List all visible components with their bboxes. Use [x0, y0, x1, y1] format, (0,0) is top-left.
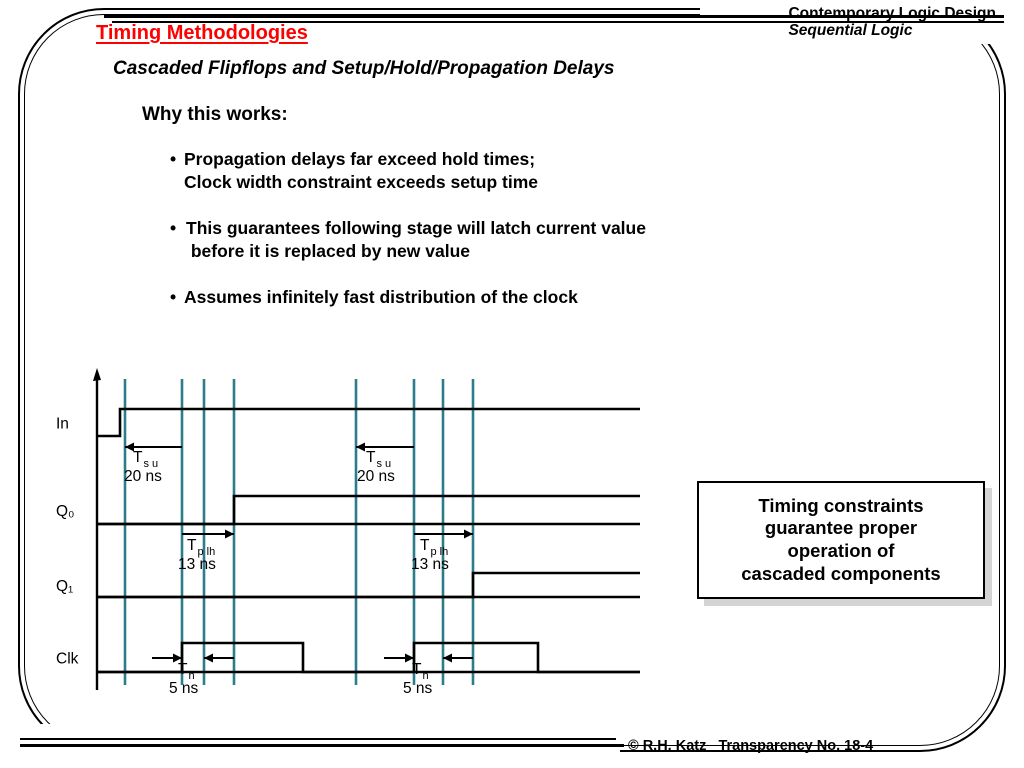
annotation-th-1b [204, 654, 234, 663]
annotation-th-1: Th5 ns [152, 654, 199, 698]
waveform-q0 [97, 496, 640, 524]
annotation-value: 5 ns [169, 680, 199, 697]
callout-text: Timing constraints guarantee proper oper… [741, 495, 940, 585]
measure-arrow-icon [464, 530, 473, 539]
axis-arrow-icon [93, 368, 101, 381]
signal-label-q0: Q₀ [56, 503, 75, 520]
annotation-value: 20 ns [124, 468, 162, 485]
signal-label-clk: Clk [56, 651, 79, 668]
annotation-tsu-1: Ts u20 ns [124, 443, 182, 486]
bullet-text: Propagation delays far exceed hold times… [170, 148, 910, 194]
page-title: Timing Methodologies [96, 22, 308, 45]
footer-rule-lower [20, 744, 624, 747]
annotation-value: 13 ns [178, 556, 216, 573]
measure-arrow-icon [225, 530, 234, 539]
footer-text: © R.H. Katz Transparency No. 18-4 [628, 738, 873, 754]
list-item: • Assumes infinitely fast distribution o… [170, 286, 910, 309]
signal-label-in: In [56, 416, 69, 433]
bullet-text: This guarantees following stage will lat… [170, 217, 910, 263]
annotation-symbol: Ts u [133, 449, 158, 470]
measure-arrow-icon [204, 654, 213, 663]
bullet-text: Assumes infinitely fast distribution of … [170, 286, 910, 309]
timing-diagram-svg: InQ₀Q₁ClkTs u20 nsTp lh13 nsTh5 nsTs u20… [40, 360, 660, 710]
header-course-title: Contemporary Logic Design [788, 6, 996, 23]
bullet-marker: • [170, 286, 176, 309]
timing-diagram: InQ₀Q₁ClkTs u20 nsTp lh13 nsTh5 nsTs u20… [40, 360, 660, 710]
page-subtitle: Cascaded Flipflops and Setup/Hold/Propag… [113, 58, 614, 80]
annotation-symbol: Tp lh [187, 537, 215, 558]
list-item: • Propagation delays far exceed hold tim… [170, 148, 910, 194]
annotation-value: 13 ns [411, 556, 449, 573]
callout-box: Timing constraints guarantee proper oper… [697, 481, 985, 599]
bullet-marker: • [170, 217, 176, 240]
annotation-tsu-2: Ts u20 ns [356, 443, 414, 486]
annotation-tplh-1: Tp lh13 ns [178, 530, 234, 574]
measure-arrow-icon [443, 654, 452, 663]
annotation-symbol: Ts u [366, 449, 391, 470]
annotation-symbol: Th [178, 661, 195, 682]
lead-text: Why this works: [142, 104, 288, 126]
bullet-list: • Propagation delays far exceed hold tim… [170, 148, 910, 332]
waveform-q1 [97, 573, 640, 597]
slide-canvas: Contemporary Logic Design Sequential Log… [0, 0, 1024, 768]
measure-arrow-icon [356, 443, 365, 452]
signal-label-q1: Q₁ [56, 578, 73, 595]
annotation-th-2b [443, 654, 473, 663]
header-block: Contemporary Logic Design Sequential Log… [788, 6, 996, 39]
annotation-value: 20 ns [357, 468, 395, 485]
bullet-marker: • [170, 148, 176, 171]
annotation-value: 5 ns [403, 680, 433, 697]
list-item: • This guarantees following stage will l… [170, 217, 910, 263]
waveform-in [97, 409, 640, 436]
header-section-title: Sequential Logic [788, 23, 996, 40]
annotation-th-2: Th5 ns [384, 654, 433, 698]
footer-rule-upper [20, 738, 616, 740]
